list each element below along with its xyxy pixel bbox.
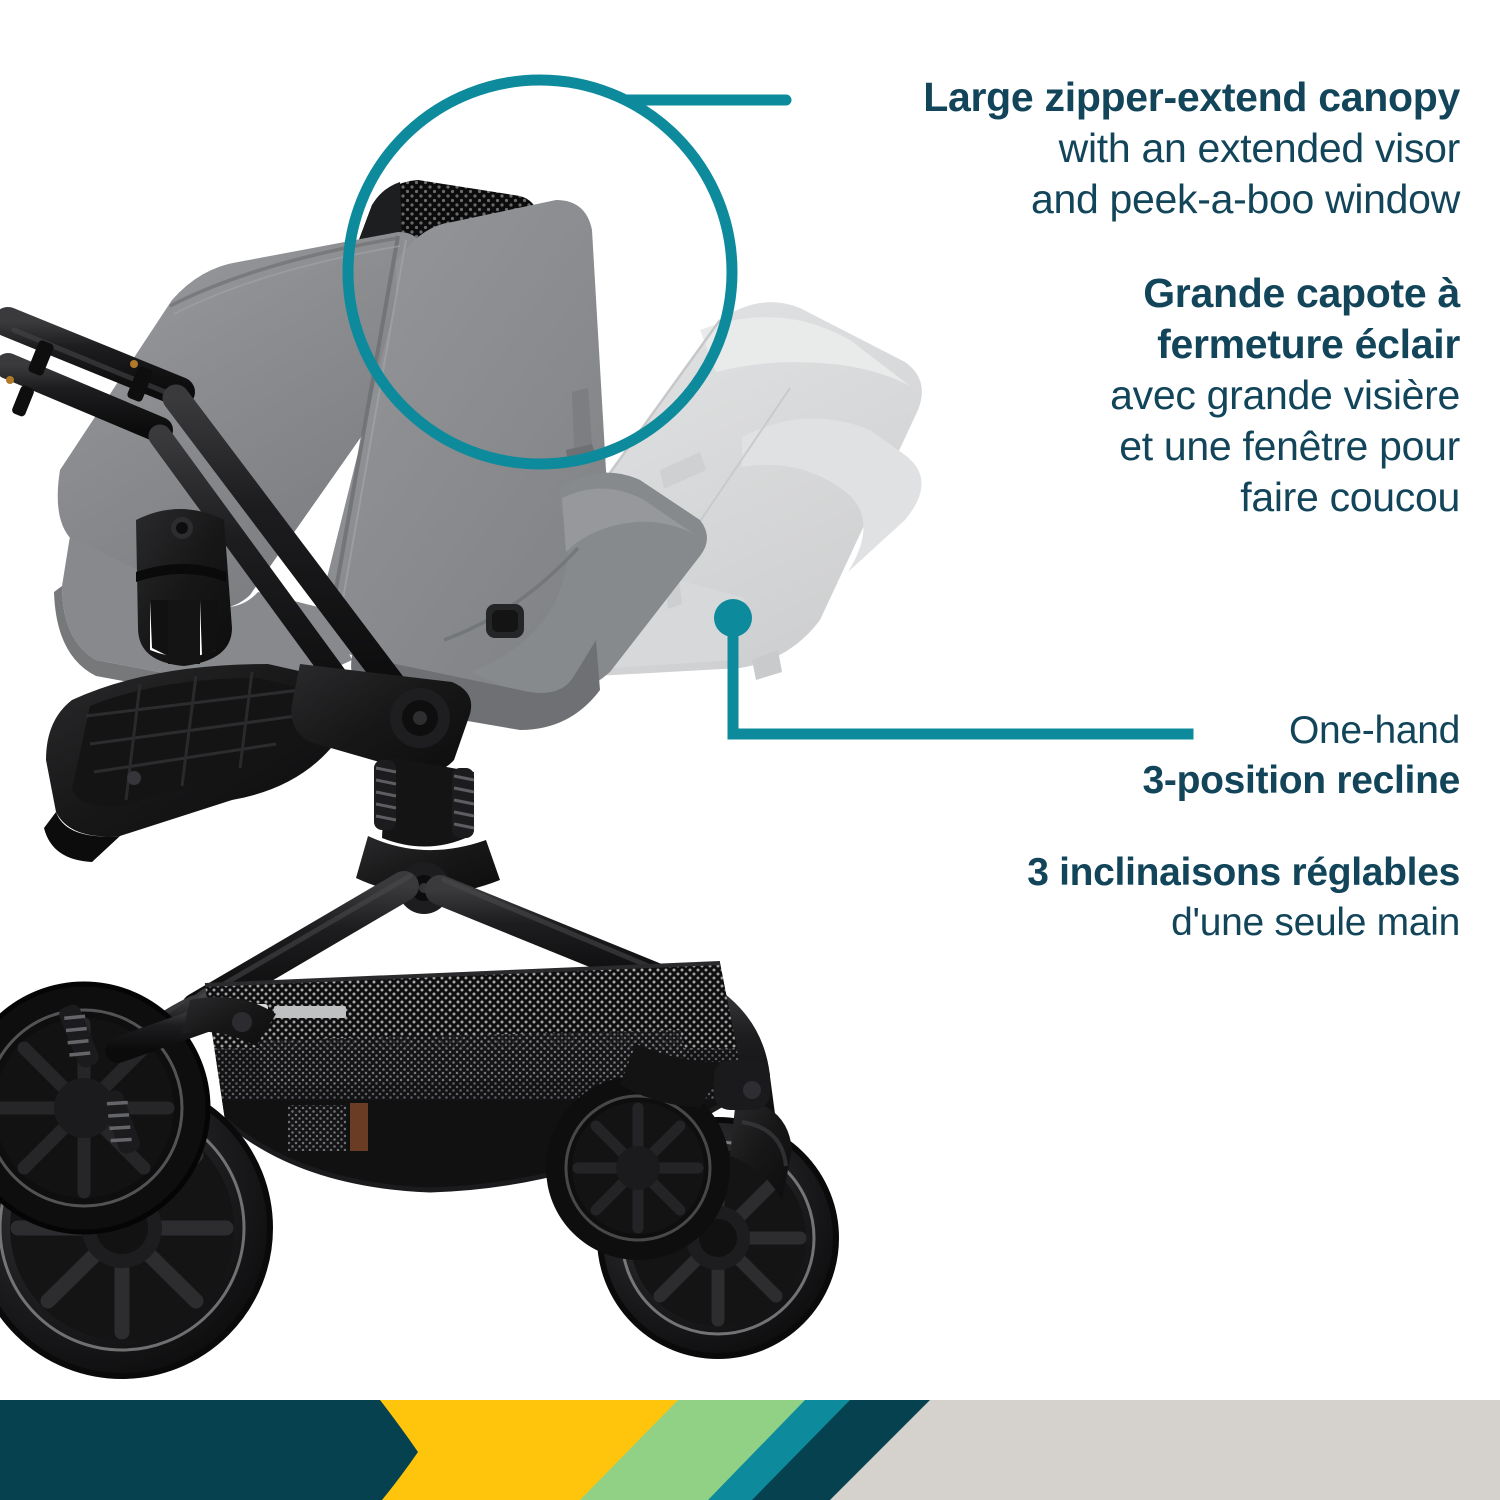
footrest	[44, 664, 336, 862]
callout-canopy-fr-body-2: et une fenêtre pour	[860, 421, 1460, 472]
callout-canopy-en-body-2: and peek-a-boo window	[700, 174, 1460, 225]
callout-canopy-fr-body-1: avec grande visière	[860, 370, 1460, 421]
callout-canopy-en-body-1: with an extended visor	[700, 123, 1460, 174]
callout-recline-fr-heading: 3 inclinaisons réglables	[820, 848, 1460, 898]
callout-recline-fr-body-1: d'une seule main	[820, 898, 1460, 948]
callout-canopy-french: Grande capote à fermeture éclair avec gr…	[860, 268, 1460, 523]
callout-recline-french: 3 inclinaisons réglables d'une seule mai…	[820, 848, 1460, 948]
callout-canopy-fr-heading-2: fermeture éclair	[860, 319, 1460, 370]
brand-color-bar	[0, 1400, 1500, 1500]
cup-holder	[136, 509, 232, 666]
callout-canopy-fr-body-3: faire coucou	[860, 472, 1460, 523]
callout-canopy-english: Large zipper-extend canopy with an exten…	[700, 72, 1460, 225]
infographic-canvas: Large zipper-extend canopy with an exten…	[0, 0, 1500, 1500]
callout-canopy-fr-heading-1: Grande capote à	[860, 268, 1460, 319]
bar-dark-teal-stripe-left	[0, 1400, 418, 1500]
callout-canopy-en-heading: Large zipper-extend canopy	[700, 72, 1460, 123]
callout-recline-en-body-1: One-hand	[860, 706, 1460, 756]
callout-recline-english: One-hand 3-position recline	[860, 706, 1460, 806]
callout-recline-en-heading: 3-position recline	[860, 756, 1460, 806]
